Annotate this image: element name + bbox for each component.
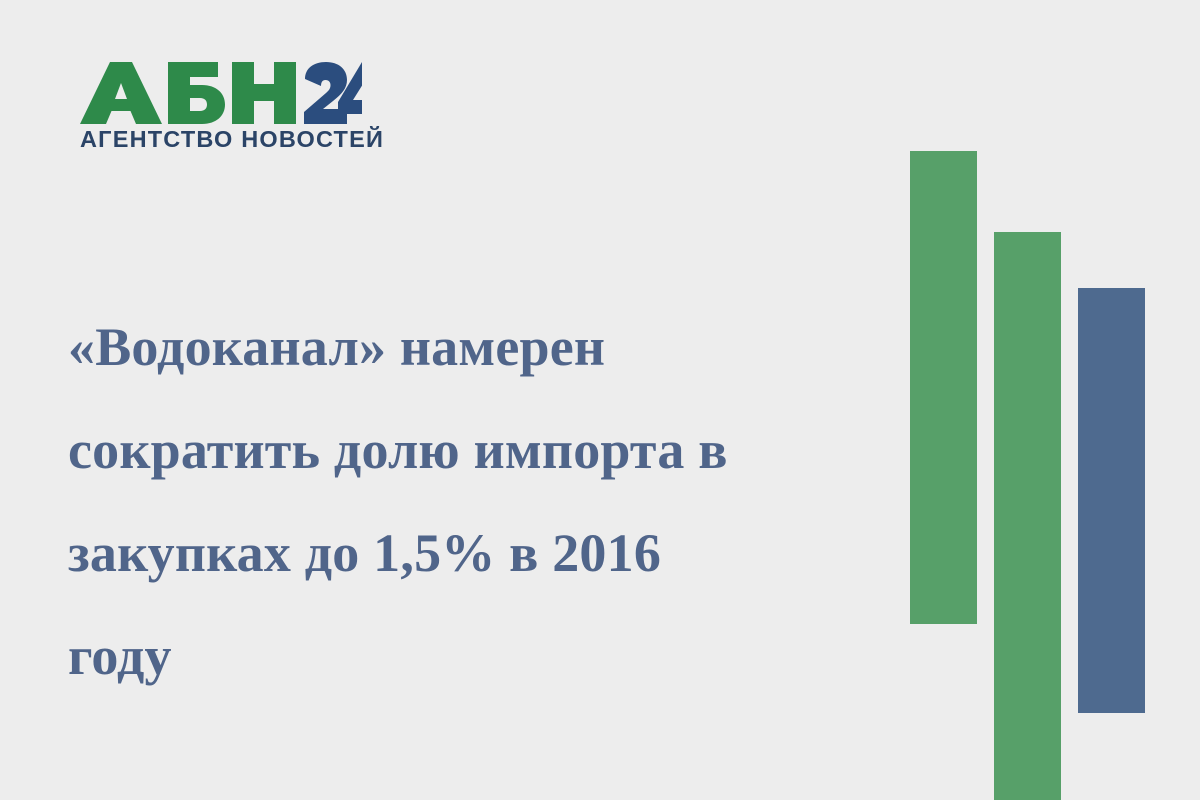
headline-line-4: году <box>68 605 868 708</box>
decorative-bar-1 <box>910 151 977 624</box>
headline-line-3: закупках до 1,5% в 2016 <box>68 502 868 605</box>
news-card: АГЕНТСТВО НОВОСТЕЙ «Водоканал» намерен с… <box>0 0 1200 800</box>
logo-digit-two-icon <box>304 62 347 124</box>
abn24-logo[interactable]: АГЕНТСТВО НОВОСТЕЙ <box>80 62 380 162</box>
logo-tagline: АГЕНТСТВО НОВОСТЕЙ <box>80 128 380 152</box>
logo-letter-n-icon <box>232 62 296 124</box>
abn24-logo-mark <box>80 62 362 124</box>
logo-letter-a-icon <box>80 62 162 124</box>
headline: «Водоканал» намерен сократить долю импор… <box>68 296 868 708</box>
logo-letter-b-icon <box>168 62 225 124</box>
decorative-bar-2 <box>994 232 1061 800</box>
decorative-bar-3 <box>1078 288 1145 713</box>
headline-line-1: «Водоканал» намерен <box>68 296 868 399</box>
headline-line-2: сократить долю импорта в <box>68 399 868 502</box>
